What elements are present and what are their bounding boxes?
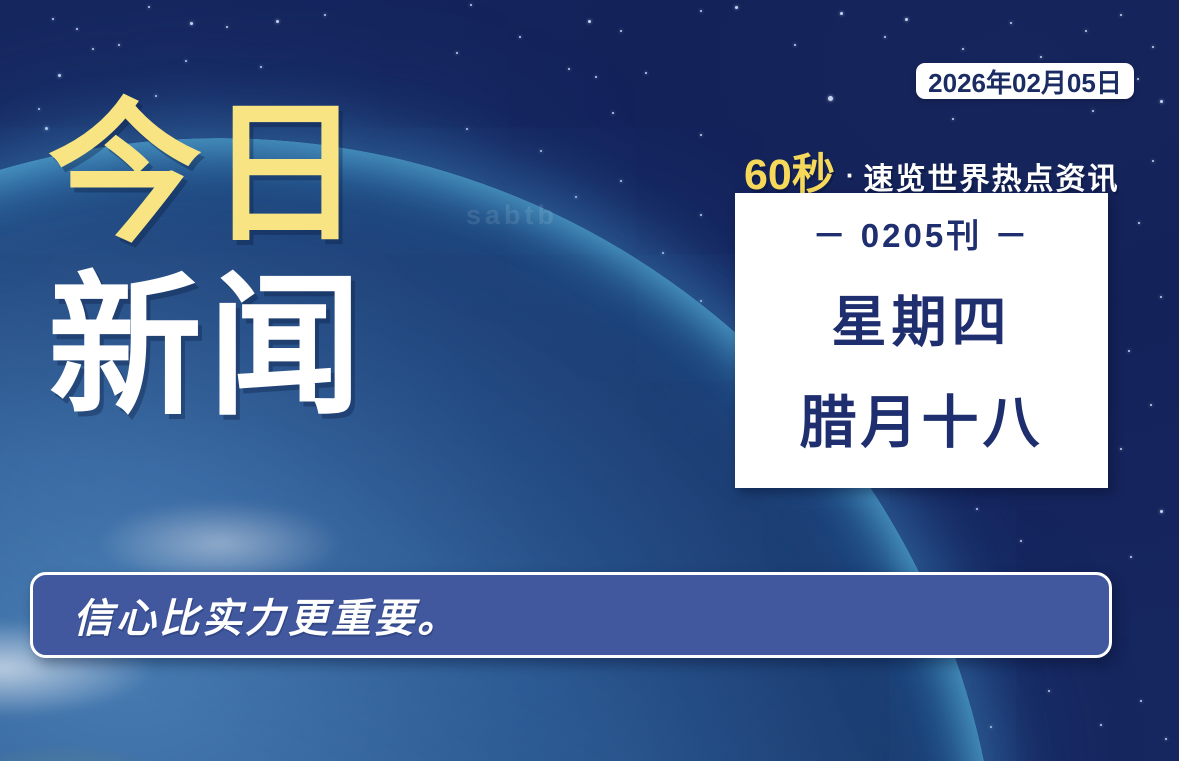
issue-number: － 0205刊 － bbox=[813, 209, 1031, 257]
quote-banner: 信心比实力更重要。 bbox=[30, 572, 1112, 658]
page-title-line-1: 今日 bbox=[48, 96, 478, 253]
tagline-separator: · bbox=[835, 160, 864, 191]
date-badge-label: 2026年02月05日 bbox=[928, 63, 1122, 100]
weekday-label: 星期四 bbox=[831, 277, 1011, 357]
page-title: 今日 新闻 bbox=[48, 96, 478, 426]
page-title-line-2: 新闻 bbox=[48, 269, 478, 426]
quote-text: 信心比实力更重要。 bbox=[73, 586, 460, 644]
issue-card: － 0205刊 － 星期四 腊月十八 bbox=[735, 193, 1108, 488]
background-watermark: sabtb bbox=[466, 200, 558, 231]
lunar-date-label: 腊月十八 bbox=[800, 377, 1044, 459]
poster-canvas: sabtb 2026年02月05日 今日 新闻 60秒 · 速览世界热点资讯 －… bbox=[0, 0, 1179, 761]
date-badge: 2026年02月05日 bbox=[916, 63, 1134, 99]
tagline-text: 速览世界热点资讯 bbox=[864, 154, 1120, 198]
